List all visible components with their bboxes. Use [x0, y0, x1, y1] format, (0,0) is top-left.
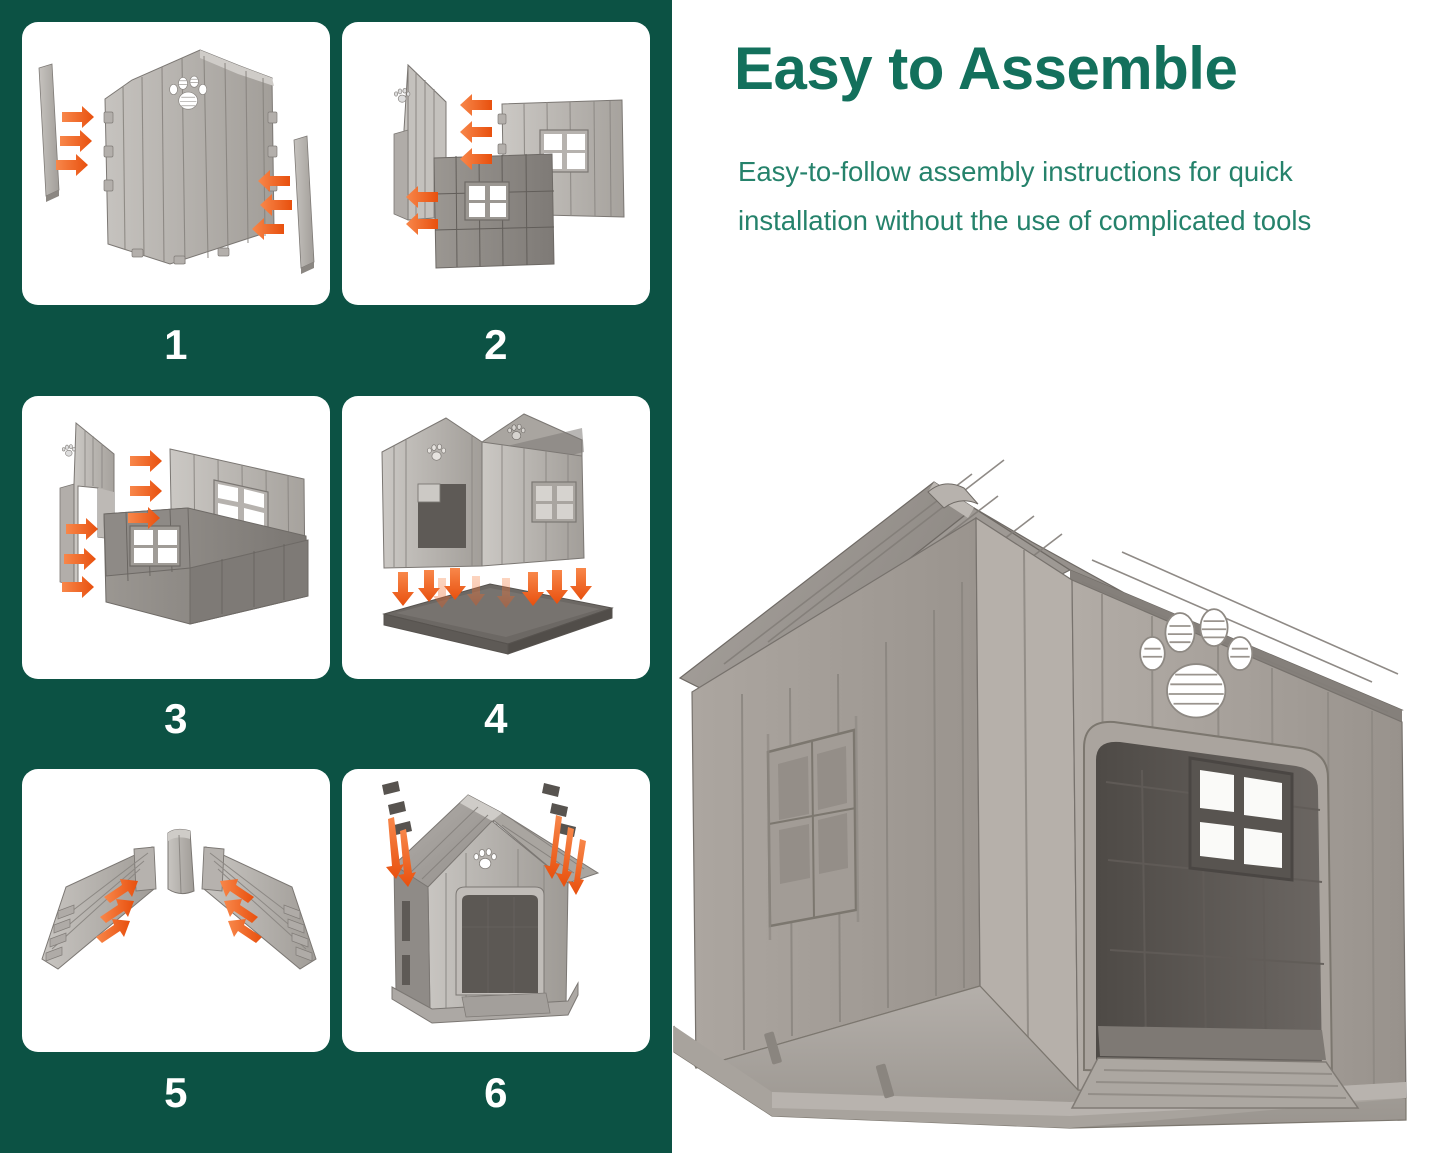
step-6-number: 6: [342, 1052, 650, 1133]
step-4-cell: 4: [342, 396, 650, 760]
step-3-illustration: [22, 396, 330, 679]
lower-wall-panel: [434, 154, 554, 268]
step-1-illustration: [22, 22, 330, 305]
step-6-illustration: [342, 769, 650, 1052]
hero-door-window: [1190, 758, 1292, 880]
step-6-card: [342, 769, 650, 1052]
ridge-cap: [168, 830, 194, 894]
left-trim-strip: [39, 64, 59, 202]
hero-doorway: [1084, 722, 1332, 1078]
step-4-illustration: [342, 396, 650, 679]
step-1-cell: 1: [22, 22, 330, 386]
step-6-cell: 6: [342, 769, 650, 1133]
assembly-steps-panel: 1: [0, 0, 672, 1153]
right-window: [532, 482, 576, 522]
front-gable-panel: [104, 50, 277, 264]
step-2-number: 2: [342, 305, 650, 386]
lower-window: [465, 182, 509, 220]
step-4-card: [342, 396, 650, 679]
step-3-card: [22, 396, 330, 679]
paw-print-icon-small: [62, 444, 75, 456]
roof-panel-right: [202, 847, 316, 969]
step-5-card: [22, 769, 330, 1052]
step-3-number: 3: [22, 679, 330, 760]
hero-entry-ramp: [1072, 1058, 1358, 1108]
page-subtitle: Easy-to-follow assembly instructions for…: [738, 148, 1418, 246]
step-2-card: [342, 22, 650, 305]
product-hero-image: [672, 430, 1445, 1130]
step-2-cell: 2: [342, 22, 650, 386]
step-3-cell: 3: [22, 396, 330, 760]
page-title: Easy to Assemble: [734, 36, 1434, 102]
step-5-illustration: [22, 769, 330, 1052]
step-5-cell: 5: [22, 769, 330, 1133]
assembled-walls: [382, 414, 584, 568]
steps-grid: 1: [22, 22, 650, 1133]
hero-side-window: [768, 730, 856, 926]
step-4-number: 4: [342, 679, 650, 760]
right-trim-strip: [294, 136, 314, 274]
assembly-arrows-left: [56, 106, 94, 176]
right-column: Easy to Assemble Easy-to-follow assembly…: [672, 0, 1445, 1153]
infographic-root: 1: [0, 0, 1445, 1153]
base-window: [130, 526, 180, 566]
step-1-number: 1: [22, 305, 330, 386]
step-5-number: 5: [22, 1052, 330, 1133]
hero-front-wall: [976, 518, 1406, 1098]
step-2-illustration: [342, 22, 650, 305]
step-1-card: [22, 22, 330, 305]
roof-panel-left: [42, 847, 156, 969]
